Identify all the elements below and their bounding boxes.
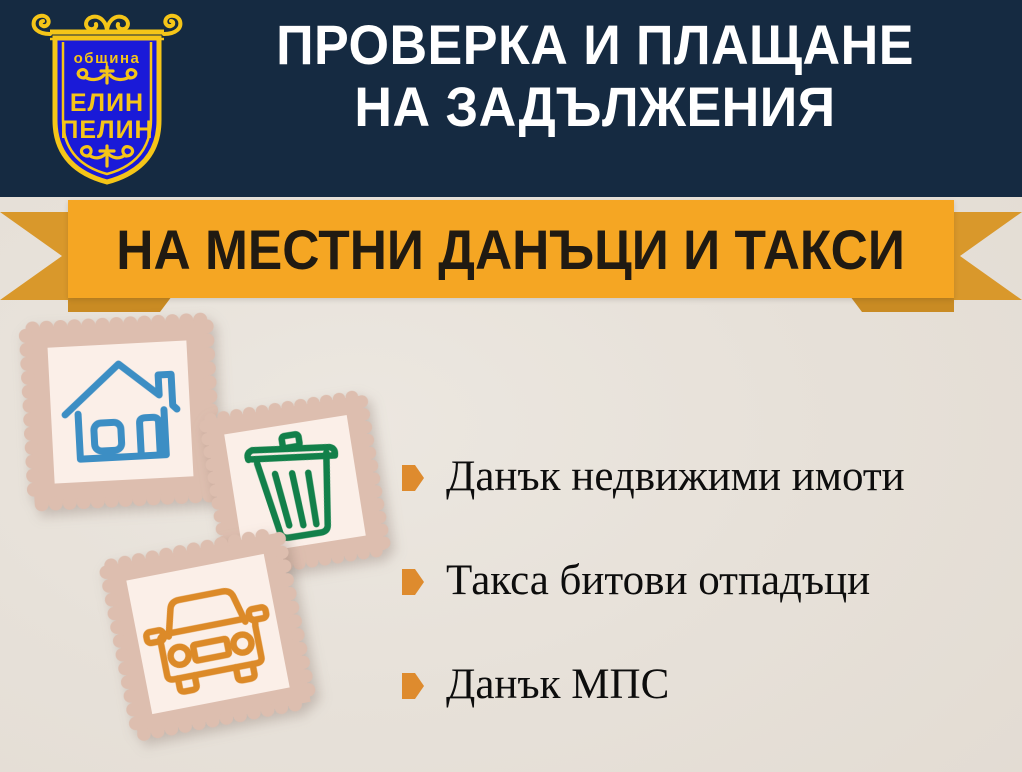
municipality-logo: община ЕЛИН ПЕЛИН [22,8,192,188]
logo-text-elin: ЕЛИН [70,89,144,117]
ribbon-main-band: НА МЕСТНИ ДАНЪЦИ И ТАКСИ [68,200,954,298]
list-item[interactable]: Данък недвижими имоти [402,424,1017,528]
list-item[interactable]: Данък МПС [402,632,1017,736]
stamp-card-car [91,519,325,750]
header-banner: община ЕЛИН ПЕЛИН ПРОВЕРКА И ПЛАЩАНЕ НА … [0,0,1022,197]
ribbon-label: НА МЕСТНИ ДАНЪЦИ И ТАКСИ [117,217,906,282]
page-title: ПРОВЕРКА И ПЛАЩАНЕ НА ЗАДЪЛЖЕНИЯ [214,14,977,138]
arrow-bullet-icon [402,673,424,699]
list-item[interactable]: Такса битови отпадъци [402,528,1017,632]
arrow-bullet-icon [402,569,424,595]
logo-text-obshtina: община [74,50,141,67]
list-item-label: Такса битови отпадъци [446,559,870,602]
ribbon-banner: НА МЕСТНИ ДАНЪЦИ И ТАКСИ [0,190,1022,315]
list-item-label: Данък недвижими имоти [446,455,905,498]
arrow-bullet-icon [402,465,424,491]
logo-text-pelin: ПЕЛИН [60,116,153,144]
list-item-label: Данък МПС [446,663,669,706]
tax-type-list: Данък недвижими имоти Такса битови отпад… [402,424,1017,736]
